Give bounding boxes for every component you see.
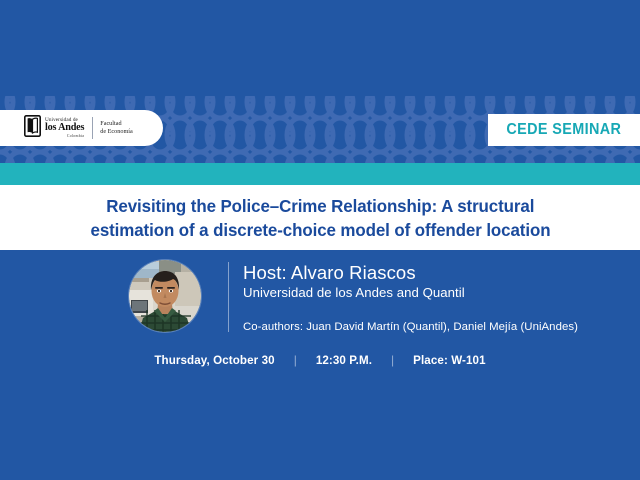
event-place: Place: W-101	[413, 354, 486, 367]
host-portrait	[129, 260, 201, 332]
logo-line-3: Colombia	[45, 135, 84, 139]
open-book-icon	[24, 115, 41, 142]
cede-seminar-badge: CEDE SEMINAR	[488, 114, 640, 146]
page-title-line-1: Revisiting the Police–Crime Relationship…	[106, 194, 534, 218]
logo-line-2: los Andes	[45, 123, 84, 133]
teal-accent-strip	[0, 163, 640, 185]
university-logo: Universidad de los Andes Colombia Facult…	[0, 110, 163, 146]
faculty-wordmark: Facultad de Economía	[100, 120, 132, 136]
avatar	[129, 260, 201, 332]
logo-divider	[92, 117, 93, 139]
faculty-line-1: Facultad	[100, 120, 132, 128]
host-affiliation: Universidad de los Andes and Quantil	[243, 284, 633, 302]
seminar-poster: Universidad de los Andes Colombia Facult…	[0, 0, 640, 480]
title-band: Revisiting the Police–Crime Relationship…	[0, 185, 640, 250]
logo-wordmark: Universidad de los Andes Colombia	[45, 118, 84, 139]
host-divider	[228, 262, 229, 332]
event-time: 12:30 P.M.	[316, 354, 372, 367]
host-text: Host: Alvaro Riascos Universidad de los …	[243, 262, 633, 335]
faculty-line-2: de Economía	[100, 128, 132, 136]
host-name: Host: Alvaro Riascos	[243, 262, 633, 284]
coauthors: Co-authors: Juan David Martín (Quantil),…	[243, 319, 633, 335]
event-details: Thursday, October 30 | 12:30 P.M. | Plac…	[0, 353, 640, 367]
logo-inner: Universidad de los Andes Colombia Facult…	[24, 115, 133, 142]
details-separator-2: |	[391, 353, 394, 367]
host-block: Host: Alvaro Riascos Universidad de los …	[0, 250, 640, 350]
page-title-line-2: estimation of a discrete-choice model of…	[90, 218, 550, 242]
details-separator-1: |	[294, 353, 297, 367]
event-date: Thursday, October 30	[154, 354, 274, 367]
cede-seminar-label: CEDE SEMINAR	[506, 121, 621, 139]
